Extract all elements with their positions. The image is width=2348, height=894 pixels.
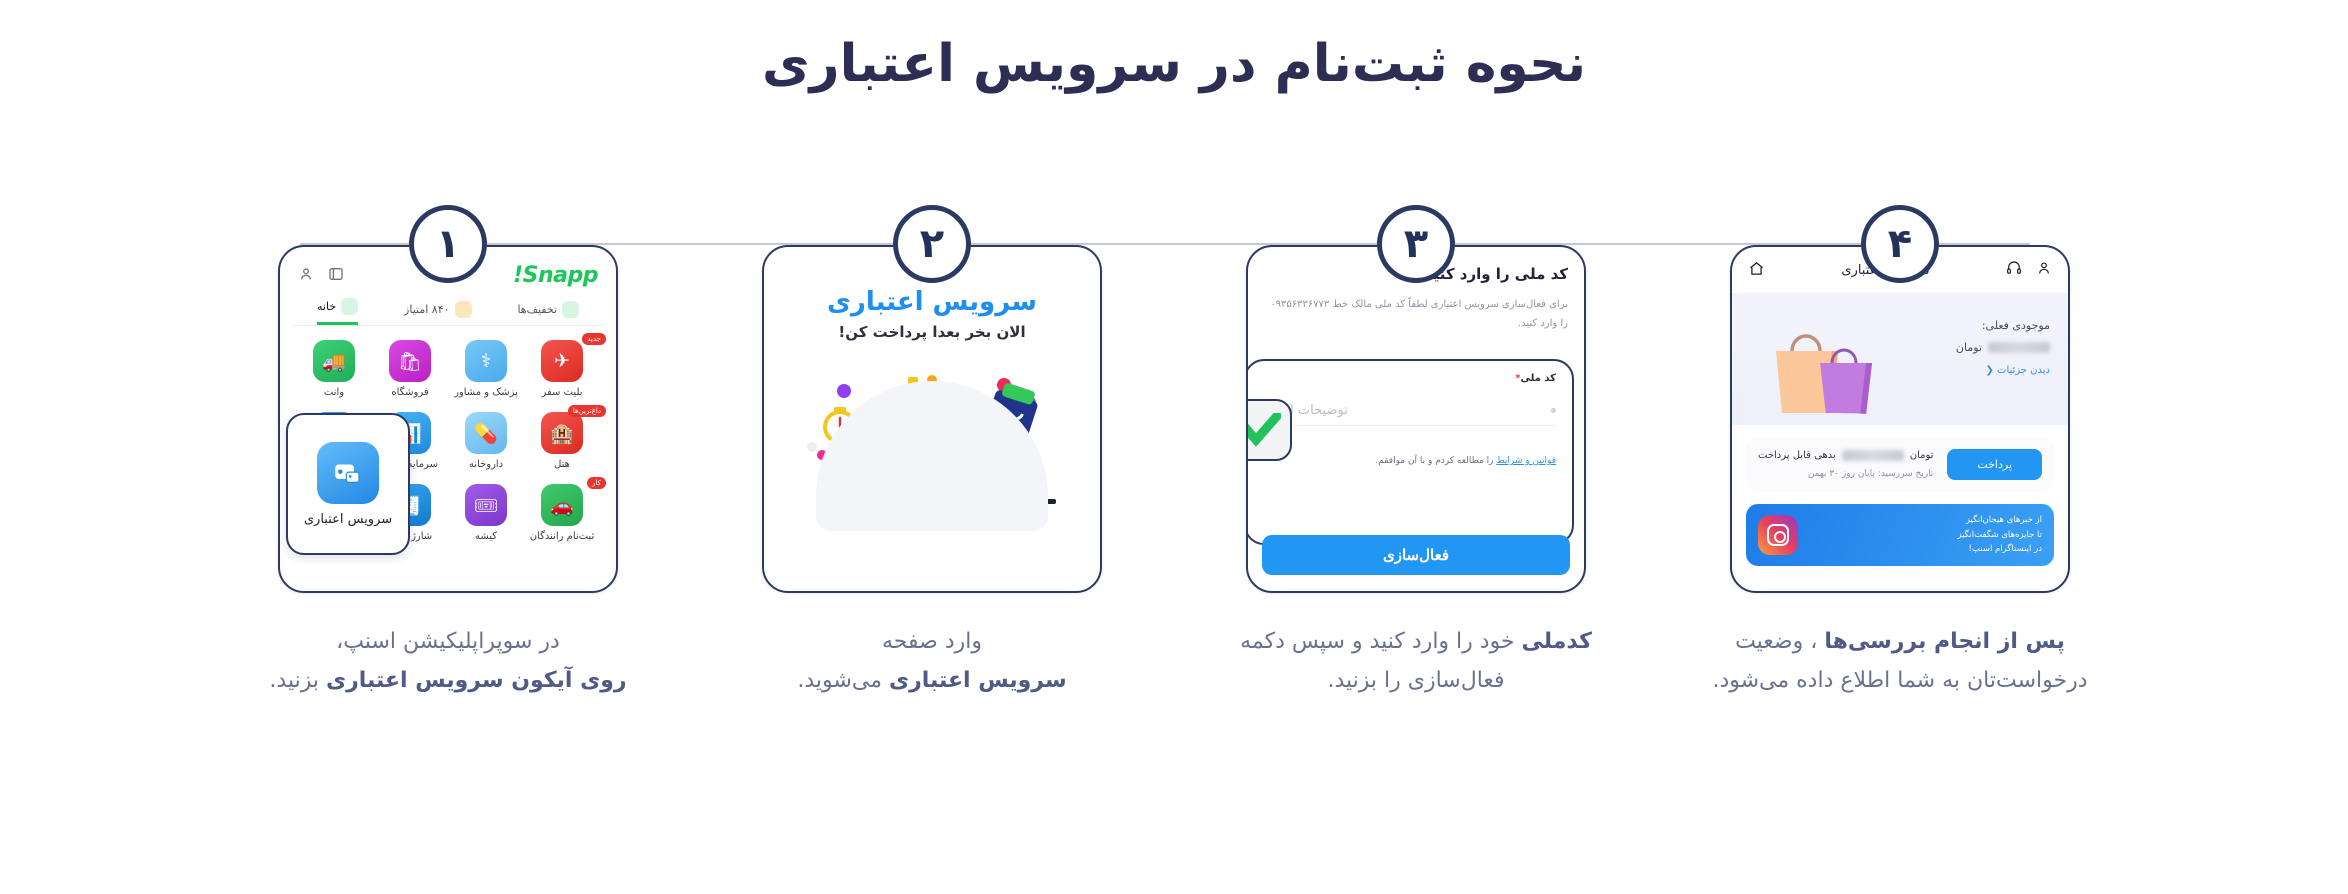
national-code-label: کد ملی* bbox=[1262, 373, 1556, 384]
step-3-caption-tail: خود را وارد کنید و سپس دکمه فعال‌سازی را… bbox=[1240, 629, 1521, 693]
truck-icon: 🚚 bbox=[313, 340, 355, 382]
step-1-caption: در سوپراپلیکیشن اسنپ، روی آیکون سرویس اع… bbox=[228, 623, 668, 700]
plane-icon: ✈ bbox=[541, 340, 583, 382]
pay-button[interactable]: پرداخت bbox=[1947, 449, 2042, 480]
credit-wallet-icon bbox=[317, 442, 379, 504]
app-label: وانت bbox=[324, 387, 344, 398]
step-1-caption-line1: در سوپراپلیکیشن اسنپ، bbox=[336, 629, 560, 654]
headset-icon[interactable] bbox=[2006, 260, 2022, 280]
person-icon[interactable] bbox=[298, 266, 314, 286]
instagram-banner[interactable]: از خبرهای هیجان‌انگیز تا جایزه‌های شگفت‌… bbox=[1746, 504, 2054, 566]
balance-currency: تومان bbox=[1956, 341, 1982, 354]
snapp-nav-points-label: ۸۴۰ امتیاز bbox=[404, 303, 449, 316]
due-date: تاریخ سررسید: پایان روز ۳۰ بهمن bbox=[1758, 469, 1933, 479]
snapp-nav-points[interactable]: ۸۴۰ امتیاز bbox=[404, 301, 471, 325]
snapp-nav-discounts-label: تخفیف‌ها bbox=[517, 303, 557, 316]
medicine-icon: 💊 bbox=[465, 412, 507, 454]
step-4-caption: پس از انجام بررسی‌ها ، وضعیت درخواست‌تان… bbox=[1680, 623, 2120, 700]
steering-icon: 🚗 bbox=[541, 484, 583, 526]
step-2-badge: ٢ bbox=[893, 205, 971, 283]
step-1-badge: ١ bbox=[409, 205, 487, 283]
steps-row: ١ Snapp! bbox=[0, 205, 2348, 700]
step-2-screen: سرویس اعتباری الان بخر بعدا پرداخت کن! bbox=[762, 245, 1102, 593]
dashboard-header-icons bbox=[2006, 260, 2052, 280]
app-label: کیشه bbox=[475, 531, 497, 542]
app-label: بلیت سفر bbox=[541, 387, 582, 398]
banner-line-2: تا جایزه‌های شگفت‌انگیز bbox=[1957, 530, 2042, 540]
input-caret bbox=[1551, 408, 1556, 413]
app-label: ثبت‌نام رانندگان bbox=[530, 531, 595, 542]
ticket-icon[interactable] bbox=[328, 266, 344, 286]
balance-amount-masked bbox=[1988, 342, 2050, 353]
home-icon bbox=[341, 298, 358, 315]
terms-agreement: قوانین و شرایط را مطالعه کردم و با آن مو… bbox=[1262, 456, 1556, 466]
snapp-nav: تخفیف‌ها ۸۴۰ امتیاز خانه bbox=[280, 298, 616, 325]
balance-block: موجودی فعلی: تومان دیدن جزئیات ❮ bbox=[1956, 319, 2050, 376]
app-label: هتل bbox=[554, 459, 570, 470]
step-2-caption-line1: وارد صفحه bbox=[882, 629, 982, 654]
instagram-icon bbox=[1758, 515, 1798, 555]
promo-title: سرویس اعتباری bbox=[827, 287, 1037, 317]
balance-label: موجودی فعلی: bbox=[1956, 319, 2050, 332]
app-cell[interactable]: 💊 داروخانه bbox=[448, 412, 524, 470]
step-1-caption-tail: بزنید. bbox=[269, 668, 326, 693]
app-cell[interactable]: 🚚 وانت bbox=[296, 340, 372, 398]
step-2: ٢ سرویس اعتباری الان بخر بعدا پرداخت کن! bbox=[742, 205, 1122, 700]
snapp-nav-home-label: خانه bbox=[317, 300, 336, 313]
step-2-caption: وارد صفحه سرویس اعتباری می‌شوید. bbox=[712, 623, 1152, 700]
snapp-logo: Snapp! bbox=[513, 263, 598, 288]
stethoscope-icon: ⚕ bbox=[465, 340, 507, 382]
page-root: نحوه ثبت‌نام در سرویس اعتباری ١ Snapp! bbox=[0, 0, 2348, 894]
step-3-caption-bold: کدملی bbox=[1522, 629, 1592, 654]
debt-amount-row: بدهی قابل پرداخت تومان bbox=[1758, 450, 1933, 461]
balance-amount-row: تومان bbox=[1956, 341, 2050, 354]
step-4-screen: سرویس اعتباری موجودی فعلی: تومان bbox=[1730, 245, 2070, 593]
app-cell[interactable]: ✈ جدید بلیت سفر bbox=[524, 340, 600, 398]
coin-icon bbox=[455, 301, 472, 318]
app-cell[interactable]: 🎟 کیشه bbox=[448, 484, 524, 542]
debt-texts: بدهی قابل پرداخت تومان تاریخ سررسید: پای… bbox=[1758, 450, 1933, 479]
national-code-label-text: کد ملی bbox=[1521, 373, 1556, 384]
app-chip: داغ‌ترین‌ها bbox=[568, 405, 606, 417]
debt-panel: پرداخت بدهی قابل پرداخت تومان تاریخ سررس… bbox=[1746, 437, 2054, 492]
snapp-nav-divider bbox=[292, 325, 604, 326]
app-chip: جدید bbox=[582, 333, 606, 345]
national-code-form: کد ملی را وارد کنید برای فعال‌سازی سرویس… bbox=[1248, 247, 1584, 591]
step-1-screen: Snapp! bbox=[278, 245, 618, 593]
step-1: ١ Snapp! bbox=[258, 205, 638, 700]
debt-currency: تومان bbox=[1910, 450, 1934, 461]
step-4: ۴ bbox=[1710, 205, 2090, 700]
step-4-badge: ۴ bbox=[1861, 205, 1939, 283]
credit-service-highlight-label: سرویس اعتباری bbox=[304, 512, 392, 527]
step-3: ٣ کد ملی را وارد کنید برای فعال‌سازی سرو… bbox=[1226, 205, 1606, 700]
green-check-icon bbox=[1246, 399, 1292, 461]
step-2-caption-tail: می‌شوید. bbox=[797, 668, 889, 693]
step-3-screen: کد ملی را وارد کنید برای فعال‌سازی سرویس… bbox=[1246, 245, 1586, 593]
snapp-header-icons bbox=[298, 266, 344, 286]
page-title: نحوه ثبت‌نام در سرویس اعتباری bbox=[0, 34, 2348, 94]
debt-amount-masked bbox=[1842, 450, 1904, 461]
activate-button[interactable]: فعال‌سازی bbox=[1262, 535, 1570, 575]
app-label: داروخانه bbox=[469, 459, 503, 470]
banner-line-1: از خبرهای هیجان‌انگیز bbox=[1966, 515, 2042, 525]
step-3-caption: کدملی خود را وارد کنید و سپس دکمه فعال‌س… bbox=[1196, 623, 1636, 700]
app-label: پزشک و مشاور bbox=[454, 387, 518, 398]
shopping-bags-illustration bbox=[1764, 317, 1896, 421]
credit-service-highlight-card[interactable]: سرویس اعتباری bbox=[286, 413, 410, 555]
promo-subtitle: الان بخر بعدا پرداخت کن! bbox=[838, 323, 1025, 341]
step-4-caption-bold: پس از انجام بررسی‌ها bbox=[1824, 629, 2065, 654]
person-icon[interactable] bbox=[2036, 260, 2052, 280]
hotel-icon: 🏨 bbox=[541, 412, 583, 454]
app-chip: کار bbox=[587, 477, 606, 489]
snapp-nav-discounts[interactable]: تخفیف‌ها bbox=[517, 301, 579, 325]
ticket-tag-icon: 🎟 bbox=[465, 484, 507, 526]
wallet-with-cards-illustration bbox=[782, 355, 1082, 545]
home-icon[interactable] bbox=[1748, 260, 1765, 281]
step-1-caption-bold: روی آیکون سرویس اعتباری bbox=[326, 668, 627, 693]
credit-promo: سرویس اعتباری الان بخر بعدا پرداخت کن! bbox=[764, 247, 1100, 591]
debt-label: بدهی قابل پرداخت bbox=[1758, 450, 1836, 461]
balance-hero: موجودی فعلی: تومان دیدن جزئیات ❮ bbox=[1732, 293, 2068, 425]
terms-text: را مطالعه کردم و با آن موافقم. bbox=[1375, 456, 1496, 466]
step-3-badge: ٣ bbox=[1377, 205, 1455, 283]
app-cell[interactable]: 🚗 کار ثبت‌نام رانندگان bbox=[524, 484, 600, 542]
discount-icon bbox=[562, 301, 579, 318]
view-details-link[interactable]: دیدن جزئیات ❮ bbox=[1956, 365, 2050, 376]
national-code-input[interactable]: توضیحات اضافه bbox=[1262, 396, 1556, 426]
form-description: برای فعال‌سازی سرویس اعتباری لطفاً کد مل… bbox=[1264, 296, 1568, 333]
app-cell[interactable]: ⚕ پزشک و مشاور bbox=[448, 340, 524, 398]
app-cell[interactable]: 🛍 فروشگاه bbox=[372, 340, 448, 398]
terms-link[interactable]: قوانین و شرایط bbox=[1496, 456, 1556, 466]
banner-line-3: در اینستاگرام اسنپ! bbox=[1969, 544, 2043, 554]
app-cell[interactable]: 🏨 داغ‌ترین‌ها هتل bbox=[524, 412, 600, 470]
instagram-banner-text: از خبرهای هیجان‌انگیز تا جایزه‌های شگفت‌… bbox=[1957, 513, 2042, 556]
step-2-caption-bold: سرویس اعتباری bbox=[889, 668, 1067, 693]
form-inner-sheet: کد ملی* توضیحات اضافه قوانین و شرایط را … bbox=[1246, 359, 1574, 545]
shop-bag-icon: 🛍 bbox=[389, 340, 431, 382]
snapp-nav-home[interactable]: خانه bbox=[317, 298, 358, 325]
app-label: فروشگاه bbox=[391, 387, 428, 398]
